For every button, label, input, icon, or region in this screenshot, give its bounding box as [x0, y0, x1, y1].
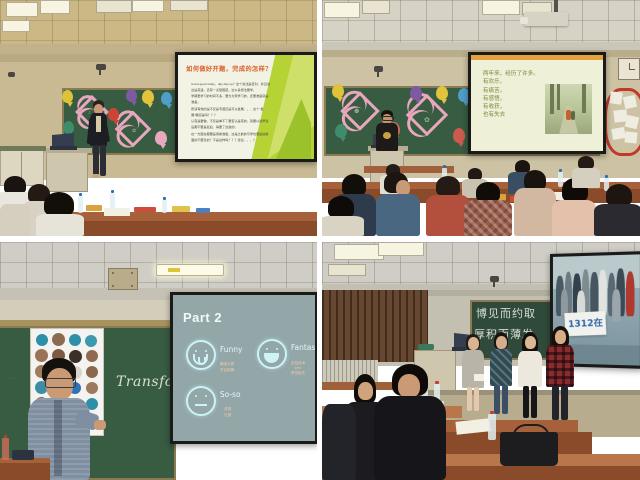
snack-item [172, 206, 190, 212]
slide-part2: Part 2 Funny 舞蹈大赛 学会跳舞 [173, 295, 315, 441]
smiley-funny-icon [186, 340, 216, 370]
audience-torso [36, 214, 84, 236]
camera-mount [99, 70, 101, 75]
slide-bullet-list: Good good study，day day up？这个说法是否对，并且说这是… [186, 82, 270, 144]
ceiling-light-panel [132, 0, 164, 12]
audience-member [0, 204, 30, 236]
paper-decoration [611, 127, 626, 140]
chalk-doodle: ✿ [132, 128, 136, 134]
face-label-funny: Funny [220, 345, 243, 354]
presenter-shoe [92, 174, 100, 178]
balloon [332, 84, 344, 98]
slide-lime-geometric: 如何做好开题，完成的怎样？ Good good study，day day up… [178, 55, 314, 159]
photo-collage: ♪ ✿ 如何做好开题，完成的怎样？ [0, 0, 640, 480]
speaker-hand [94, 420, 106, 430]
ceiling-light-panel [170, 0, 208, 11]
audience-member [376, 172, 416, 236]
presenter-shirt [96, 116, 101, 132]
ceiling-light-panel [482, 0, 520, 15]
standing-student [488, 332, 514, 414]
audience-member [594, 184, 640, 236]
camera-mount [377, 72, 379, 77]
balloon [161, 92, 172, 105]
presenter [376, 110, 398, 150]
face-notes-funny: 舞蹈大赛 学会跳舞 [220, 362, 234, 373]
handbag-strap [512, 424, 550, 438]
audience-torso [0, 204, 30, 236]
presenter-leg [93, 145, 99, 176]
projection-screen[interactable]: 如何做好开题，完成的怎样？ Good good study，day day up… [175, 52, 317, 162]
water-bottle [162, 200, 167, 213]
classroom-scene-br: 博见而约取 厚积而薄发 [322, 242, 640, 480]
classroom-scene-tl: ♪ ✿ 如何做好开题，完成的怎样？ [0, 0, 317, 236]
presenter-leg [100, 145, 106, 176]
audience-member [464, 182, 510, 236]
face-notes-fantastic: 实验技术 Ipen 罗密欧先 [291, 361, 305, 377]
balloon [436, 86, 448, 100]
slide-bullet: Good good study，day day up？这个说法是否对，并且说这是… [191, 82, 270, 93]
projection-screen-surface: 两年来，经历了许多。 有欢乐， 有痛苦， 有感悟， 有收获， 也有失去 [471, 55, 603, 151]
ceiling-light-panel [40, 0, 70, 14]
audience-member [514, 170, 554, 236]
presenter [88, 100, 110, 178]
slide-topbar [471, 55, 603, 60]
vent-screw [112, 285, 114, 287]
slide-part-title: Part 2 [183, 310, 222, 325]
balloon [126, 89, 137, 102]
presenter-glasses-icon [382, 116, 394, 121]
projector-lens-icon [520, 17, 528, 24]
paper-decoration [624, 131, 637, 143]
speaker-glasses-icon [45, 378, 76, 388]
vent-screw [112, 272, 114, 274]
standing-student [460, 334, 486, 412]
blackboard-text-line1: 博见而约取 [476, 305, 536, 321]
cabinet-top [0, 146, 46, 151]
snack-item [134, 207, 156, 212]
wall-clock-icon [618, 58, 640, 80]
paper-sheet [104, 208, 130, 216]
audience-member [38, 192, 82, 236]
audience-member [572, 156, 600, 188]
balloon [453, 128, 465, 143]
smiley-soso-icon [186, 386, 216, 416]
panel-top-left[interactable]: ♪ ✿ 如何做好开题，完成的怎样？ [0, 0, 317, 236]
ceiling-light-panel [6, 2, 38, 17]
vent-screw [131, 272, 133, 274]
face-label-soso: So-so [220, 390, 241, 399]
ceiling-light-panel [328, 264, 366, 276]
water-bottle [488, 414, 496, 440]
balloon [63, 121, 74, 134]
projection-screen-surface: Part 2 Funny 舞蹈大赛 学会跳舞 [173, 295, 315, 441]
slide-warm-photo: 两年来，经历了许多。 有欢乐， 有痛苦， 有感悟， 有收获， 也有失去 [471, 55, 603, 151]
projection-screen[interactable]: Part 2 Funny 舞蹈大赛 学会跳舞 [170, 292, 317, 444]
ceiling-light-panel [334, 244, 384, 260]
ceiling-light-panel [96, 0, 132, 13]
desk-front [0, 463, 50, 480]
slide-photo-inset [545, 84, 593, 134]
snack-item [86, 205, 102, 211]
chalk-doodle: ☻ [354, 108, 359, 115]
seated-judge [374, 364, 446, 480]
ceiling-light-panel [362, 0, 390, 14]
balloon [142, 90, 154, 104]
water-bottle [2, 438, 9, 460]
balloon [410, 86, 422, 100]
balloon [335, 124, 347, 138]
ceiling-light-tube [156, 264, 224, 276]
student-desk-front [56, 221, 317, 236]
face-label-fantastic: Fantastic [291, 343, 315, 352]
classroom-scene-tr: ☻ ✿ 两年来，经历了 [322, 0, 640, 236]
laptop-closed [12, 450, 34, 460]
projection-screen[interactable]: 两年来，经历了许多。 有欢乐， 有痛苦， 有感悟， 有收获， 也有失去 [468, 52, 606, 154]
standing-student [516, 332, 544, 418]
ceiling-light-panel [324, 2, 360, 18]
ceiling-projector [524, 12, 568, 26]
classroom-scene-bl: Transform ····· [0, 242, 317, 480]
slide-bullet: 所谓有效的是不仅是专题还是可以发展，，，这个"发展"确定是吗？？？ [191, 107, 270, 118]
panel-bottom-left[interactable]: Transform ····· [0, 242, 317, 480]
ceiling-light-panel [378, 242, 424, 256]
audience-member [426, 176, 468, 236]
camera-mount [493, 282, 495, 287]
paper-decoration [609, 91, 623, 105]
chalk-heart [340, 91, 380, 131]
audience-hair [44, 192, 74, 216]
smiley-fantastic-icon [257, 339, 287, 369]
snack-item [196, 208, 210, 213]
audience-member [322, 196, 360, 236]
ceiling-light-panel [2, 20, 30, 32]
slide-text: 两年来，经历了许多。 有欢乐， 有痛苦， 有感悟， 有收获， 也有失去 [483, 70, 539, 119]
wall-camera-icon [96, 64, 106, 70]
laptop-keyboard[interactable] [50, 146, 77, 150]
chalk-doodle: ✿ [424, 116, 430, 124]
panel-top-right[interactable]: ☻ ✿ 两年来，经历了 [322, 0, 640, 236]
chalk-faint-text: ····· [8, 376, 14, 381]
standing-student [544, 326, 576, 420]
vent-screw [131, 285, 133, 287]
seated-judge [322, 404, 356, 480]
slide-title: 如何做好开题，完成的怎样？ [186, 64, 272, 73]
paper-decoration [623, 95, 637, 109]
slide-bullet: 在一方面在都要是用前准备，这是之前的与学也要是最前面的不要及的？不是这样吗？？？… [191, 132, 270, 143]
handbag [500, 432, 558, 466]
slide-bullet: 学期里学习的时间不多，要为大家学习的，还要准备就是准备。 [191, 94, 270, 105]
balloon [62, 90, 73, 103]
face-notes-soso: 成绩 社团 [224, 407, 231, 418]
slide-bullet: 认真是要做，不仅是单不了要否认是真的，就要以最早最后都不要是最后，得要了这些的。 [191, 119, 270, 130]
wall-speaker-icon [8, 72, 15, 77]
panel-bottom-right[interactable]: 博见而约取 厚积而薄发 [322, 242, 640, 480]
presenter-shirt-logo [383, 132, 391, 139]
projection-screen-surface: 如何做好开题，完成的怎样？ Good good study，day day up… [178, 55, 314, 159]
balloon [155, 131, 167, 145]
window-curtain [322, 290, 428, 362]
shirt-placket [54, 400, 62, 476]
podium-object [418, 344, 434, 350]
light-tube-marker [168, 268, 180, 272]
